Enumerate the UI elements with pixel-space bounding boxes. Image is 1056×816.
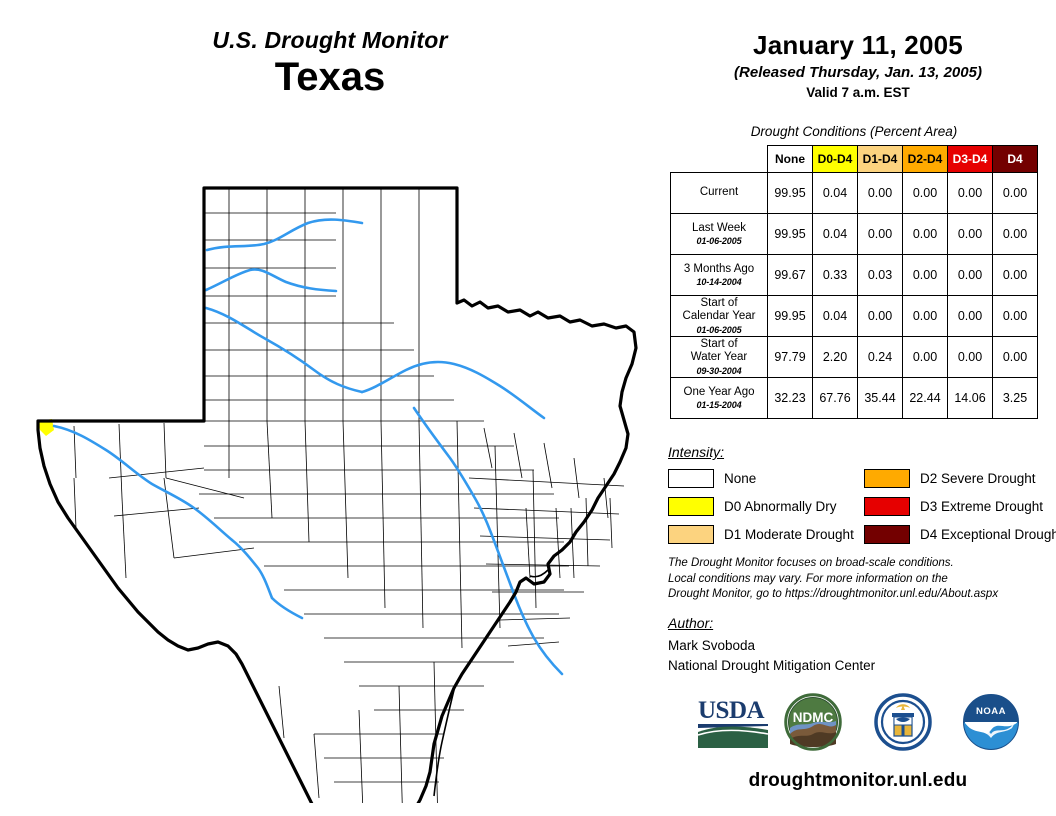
county-lines xyxy=(74,188,624,803)
table-cell: 0.00 xyxy=(903,173,948,214)
table-cell: 0.00 xyxy=(948,173,993,214)
legend-item-d3: D3 Extreme Drought xyxy=(864,494,1056,518)
table-cell: 0.00 xyxy=(993,214,1038,255)
row-label-date: 09-30-2004 xyxy=(671,366,767,376)
table-cell: 0.00 xyxy=(948,296,993,337)
table-cell: 0.00 xyxy=(993,337,1038,378)
legend-item-d0: D0 Abnormally Dry xyxy=(668,494,854,518)
table-cell: 0.00 xyxy=(903,337,948,378)
column-header-none: None xyxy=(768,146,813,173)
map-panel: U.S. Drought Monitor Texas xyxy=(0,0,660,816)
table-cell: 97.79 xyxy=(768,337,813,378)
logo-row: USDA NDMC xyxy=(660,692,1056,762)
row-label-line: Start of xyxy=(671,297,767,310)
row-label-date: 01-06-2005 xyxy=(671,325,767,335)
table-cell: 32.23 xyxy=(768,378,813,419)
table-cell: 2.20 xyxy=(813,337,858,378)
row-label: Current xyxy=(671,173,768,214)
rivers xyxy=(54,220,562,674)
table-cell: 0.04 xyxy=(813,214,858,255)
drought-monitor-page: U.S. Drought Monitor Texas xyxy=(0,0,1056,816)
table-cell: 99.95 xyxy=(768,173,813,214)
table-corner-cell xyxy=(671,146,768,173)
column-header-d1-d4: D1-D4 xyxy=(858,146,903,173)
noaa-logo: NOAA xyxy=(960,692,1022,757)
disclaimer-text: The Drought Monitor focuses on broad-sca… xyxy=(668,556,1048,603)
table-cell: 0.00 xyxy=(903,214,948,255)
table-cell: 0.00 xyxy=(858,214,903,255)
legend-column-right: D2 Severe DroughtD3 Extreme DroughtD4 Ex… xyxy=(864,466,1056,550)
usda-logo: USDA xyxy=(696,692,770,757)
table-cell: 99.67 xyxy=(768,255,813,296)
author-heading: Author: xyxy=(668,615,713,631)
column-header-d3-d4: D3-D4 xyxy=(948,146,993,173)
legend-item-d4: D4 Exceptional Drought xyxy=(864,522,1056,546)
disclaimer-line-1: The Drought Monitor focuses on broad-sca… xyxy=(668,556,1048,572)
legend-swatch-d2 xyxy=(864,469,910,488)
table-header: NoneD0-D4D1-D4D2-D4D3-D4D4 xyxy=(671,146,1038,173)
legend-item-d2: D2 Severe Drought xyxy=(864,466,1056,490)
table-row: Last Week01-06-200599.950.040.000.000.00… xyxy=(671,214,1038,255)
table-cell: 99.95 xyxy=(768,214,813,255)
doc-seal-logo xyxy=(872,692,934,757)
state-outline xyxy=(38,188,636,803)
site-url[interactable]: droughtmonitor.unl.edu xyxy=(660,770,1056,792)
table-cell: 35.44 xyxy=(858,378,903,419)
table-cell: 14.06 xyxy=(948,378,993,419)
row-label-date: 10-14-2004 xyxy=(671,277,767,287)
table-cell: 0.00 xyxy=(903,255,948,296)
barrier-islands xyxy=(414,570,548,803)
table-row: Start ofWater Year09-30-200497.792.200.2… xyxy=(671,337,1038,378)
author-name: Mark Svoboda xyxy=(668,636,1048,656)
page-title: U.S. Drought Monitor xyxy=(0,28,660,52)
legend-column-left: NoneD0 Abnormally DryD1 Moderate Drought xyxy=(668,466,854,550)
row-label: Start ofWater Year09-30-2004 xyxy=(671,337,768,378)
table-cell: 0.03 xyxy=(858,255,903,296)
author-block: Mark Svoboda National Drought Mitigation… xyxy=(668,636,1048,675)
date-block: January 11, 2005 (Released Thursday, Jan… xyxy=(660,30,1056,100)
table-cell: 0.00 xyxy=(993,296,1038,337)
row-label: Start ofCalendar Year01-06-2005 xyxy=(671,296,768,337)
table-caption: Drought Conditions (Percent Area) xyxy=(660,124,1048,139)
table-cell: 0.00 xyxy=(948,255,993,296)
table-cell: 0.04 xyxy=(813,296,858,337)
legend-label-d4: D4 Exceptional Drought xyxy=(920,527,1056,542)
disclaimer-line-2: Local conditions may vary. For more info… xyxy=(668,572,1048,588)
author-organization: National Drought Mitigation Center xyxy=(668,656,1048,676)
row-label-line: Last Week xyxy=(671,222,767,235)
valid-date: January 11, 2005 xyxy=(660,30,1056,61)
row-label-line: One Year Ago xyxy=(671,386,767,399)
ndmc-logo: NDMC xyxy=(782,692,844,757)
legend-label-d0: D0 Abnormally Dry xyxy=(724,499,837,514)
info-panel: January 11, 2005 (Released Thursday, Jan… xyxy=(660,0,1056,816)
svg-text:NOAA: NOAA xyxy=(976,706,1006,717)
table-cell: 0.00 xyxy=(993,173,1038,214)
table-cell: 0.00 xyxy=(993,255,1038,296)
texas-map-svg xyxy=(14,178,644,803)
release-date: (Released Thursday, Jan. 13, 2005) xyxy=(660,64,1056,81)
legend-label-d3: D3 Extreme Drought xyxy=(920,499,1043,514)
table-cell: 0.00 xyxy=(903,296,948,337)
drought-conditions-table: NoneD0-D4D1-D4D2-D4D3-D4D4 Current99.950… xyxy=(670,145,1038,419)
svg-text:USDA: USDA xyxy=(698,697,765,724)
intensity-heading: Intensity: xyxy=(668,444,724,460)
row-label-date: 01-06-2005 xyxy=(671,236,767,246)
legend-label-d1: D1 Moderate Drought xyxy=(724,527,854,542)
row-label-line: Start of xyxy=(671,338,767,351)
legend-swatch-d4 xyxy=(864,525,910,544)
table-cell: 0.00 xyxy=(948,214,993,255)
table-cell: 0.00 xyxy=(948,337,993,378)
table-body: Current99.950.040.000.000.000.00Last Wee… xyxy=(671,173,1038,419)
row-label-date: 01-15-2004 xyxy=(671,400,767,410)
texas-drought-map[interactable] xyxy=(14,178,644,803)
legend-swatch-d0 xyxy=(668,497,714,516)
row-label-line: 3 Months Ago xyxy=(671,263,767,276)
valid-time: Valid 7 a.m. EST xyxy=(660,85,1056,100)
column-header-d0-d4: D0-D4 xyxy=(813,146,858,173)
row-label-line: Calendar Year xyxy=(671,310,767,323)
table-cell: 67.76 xyxy=(813,378,858,419)
row-label: One Year Ago01-15-2004 xyxy=(671,378,768,419)
state-title: Texas xyxy=(0,56,660,98)
title-block: U.S. Drought Monitor Texas xyxy=(0,28,660,98)
table-row: 3 Months Ago10-14-200499.670.330.030.000… xyxy=(671,255,1038,296)
table-cell: 99.95 xyxy=(768,296,813,337)
row-label: 3 Months Ago10-14-2004 xyxy=(671,255,768,296)
column-header-d2-d4: D2-D4 xyxy=(903,146,948,173)
legend-swatch-none xyxy=(668,469,714,488)
row-label: Last Week01-06-2005 xyxy=(671,214,768,255)
row-label-line: Current xyxy=(671,186,767,199)
legend-label-none: None xyxy=(724,471,756,486)
legend-item-none: None xyxy=(668,466,854,490)
table-row: One Year Ago01-15-200432.2367.7635.4422.… xyxy=(671,378,1038,419)
disclaimer-line-3: Drought Monitor, go to https://droughtmo… xyxy=(668,587,1048,603)
table-row: Start ofCalendar Year01-06-200599.950.04… xyxy=(671,296,1038,337)
table-cell: 0.33 xyxy=(813,255,858,296)
svg-text:NDMC: NDMC xyxy=(793,710,834,725)
table-header-row: NoneD0-D4D1-D4D2-D4D3-D4D4 xyxy=(671,146,1038,173)
column-header-d4: D4 xyxy=(993,146,1038,173)
row-label-line: Water Year xyxy=(671,351,767,364)
table-row: Current99.950.040.000.000.000.00 xyxy=(671,173,1038,214)
table-cell: 0.24 xyxy=(858,337,903,378)
table-cell: 0.04 xyxy=(813,173,858,214)
legend-swatch-d1 xyxy=(668,525,714,544)
table-cell: 3.25 xyxy=(993,378,1038,419)
table-cell: 22.44 xyxy=(903,378,948,419)
table-cell: 0.00 xyxy=(858,296,903,337)
legend-item-d1: D1 Moderate Drought xyxy=(668,522,854,546)
legend-label-d2: D2 Severe Drought xyxy=(920,471,1036,486)
table-cell: 0.00 xyxy=(858,173,903,214)
legend-swatch-d3 xyxy=(864,497,910,516)
